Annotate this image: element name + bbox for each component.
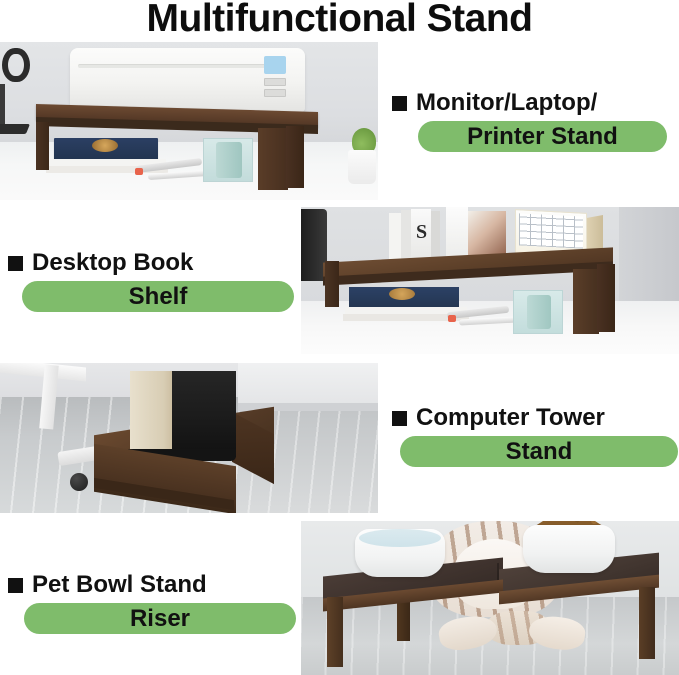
photo-computer-tower-stand — [0, 363, 378, 513]
label-pill: Shelf — [22, 281, 294, 312]
stand-leg-right — [258, 128, 288, 190]
standing-book-1 — [389, 213, 401, 259]
printer-paper-slot — [78, 64, 283, 68]
square-bullet-icon — [8, 578, 23, 593]
stand-leg-front-right — [639, 587, 655, 659]
label-text: Desktop Book — [32, 248, 193, 278]
product-infographic: Multifunctional Stand Monitor/ — [0, 0, 679, 675]
shelf-leg-right — [573, 269, 599, 334]
photo-monitor-laptop-printer-stand — [0, 42, 378, 200]
water-bowl-water — [359, 529, 441, 547]
standing-book-5 — [446, 207, 468, 260]
square-bullet-icon — [392, 411, 407, 426]
label-line-1: Computer Tower — [392, 403, 679, 433]
food-bowl — [523, 525, 615, 573]
headphones-icon — [2, 48, 30, 82]
book-cover-emblem — [92, 139, 118, 152]
label-pill: Stand — [400, 436, 678, 467]
page-title: Multifunctional Stand — [0, 0, 679, 40]
printer-button-top — [264, 78, 286, 86]
label-computer-tower-stand: Computer Tower Stand — [392, 403, 679, 467]
plant-pot — [348, 150, 376, 184]
book-cover-emblem — [389, 288, 415, 300]
label-pet-bowl-stand-riser: Pet Bowl Stand Riser — [8, 570, 295, 634]
printer-button-bottom — [264, 89, 286, 97]
label-line-1: Desktop Book — [8, 248, 295, 278]
pen-red-cap — [135, 168, 143, 175]
label-monitor-laptop-printer-stand: Monitor/Laptop/ Printer Stand — [392, 88, 679, 152]
shelf-leg-right-side — [597, 264, 615, 332]
stand-leg-front-left — [327, 597, 343, 667]
headphone-stand-post — [0, 84, 5, 126]
label-text: Monitor/Laptop/ — [416, 88, 597, 118]
standing-book-2 — [401, 210, 411, 259]
label-text: Pet Bowl Stand — [32, 570, 207, 600]
square-bullet-icon — [392, 96, 407, 111]
standing-book-4 — [431, 211, 440, 259]
square-bullet-icon — [8, 256, 23, 271]
photo-desktop-book-shelf: S — [301, 207, 679, 354]
storage-box-contents — [527, 295, 551, 329]
printer-control-panel — [264, 56, 286, 74]
photo-pet-bowl-stand-riser — [301, 521, 679, 675]
label-pill: Printer Stand — [418, 121, 667, 152]
computer-tower-front — [130, 371, 172, 457]
stand-leg-left — [36, 122, 49, 170]
book-spine-letter: S — [416, 221, 427, 244]
stand-leg-right-side — [286, 126, 304, 188]
label-text: Computer Tower — [416, 403, 605, 433]
calendar-grid — [519, 213, 583, 248]
label-line-1: Pet Bowl Stand — [8, 570, 295, 600]
computer-tower-black-side — [170, 371, 236, 457]
label-line-1: Monitor/Laptop/ — [392, 88, 679, 118]
shelf-leg-left — [325, 261, 339, 307]
pen-red-cap — [448, 315, 456, 322]
caster-wheel — [70, 473, 88, 491]
storage-box-contents — [216, 142, 242, 178]
label-pill: Riser — [24, 603, 296, 634]
label-desktop-book-shelf: Desktop Book Shelf — [8, 248, 295, 312]
headphone-stand-base — [0, 124, 30, 134]
